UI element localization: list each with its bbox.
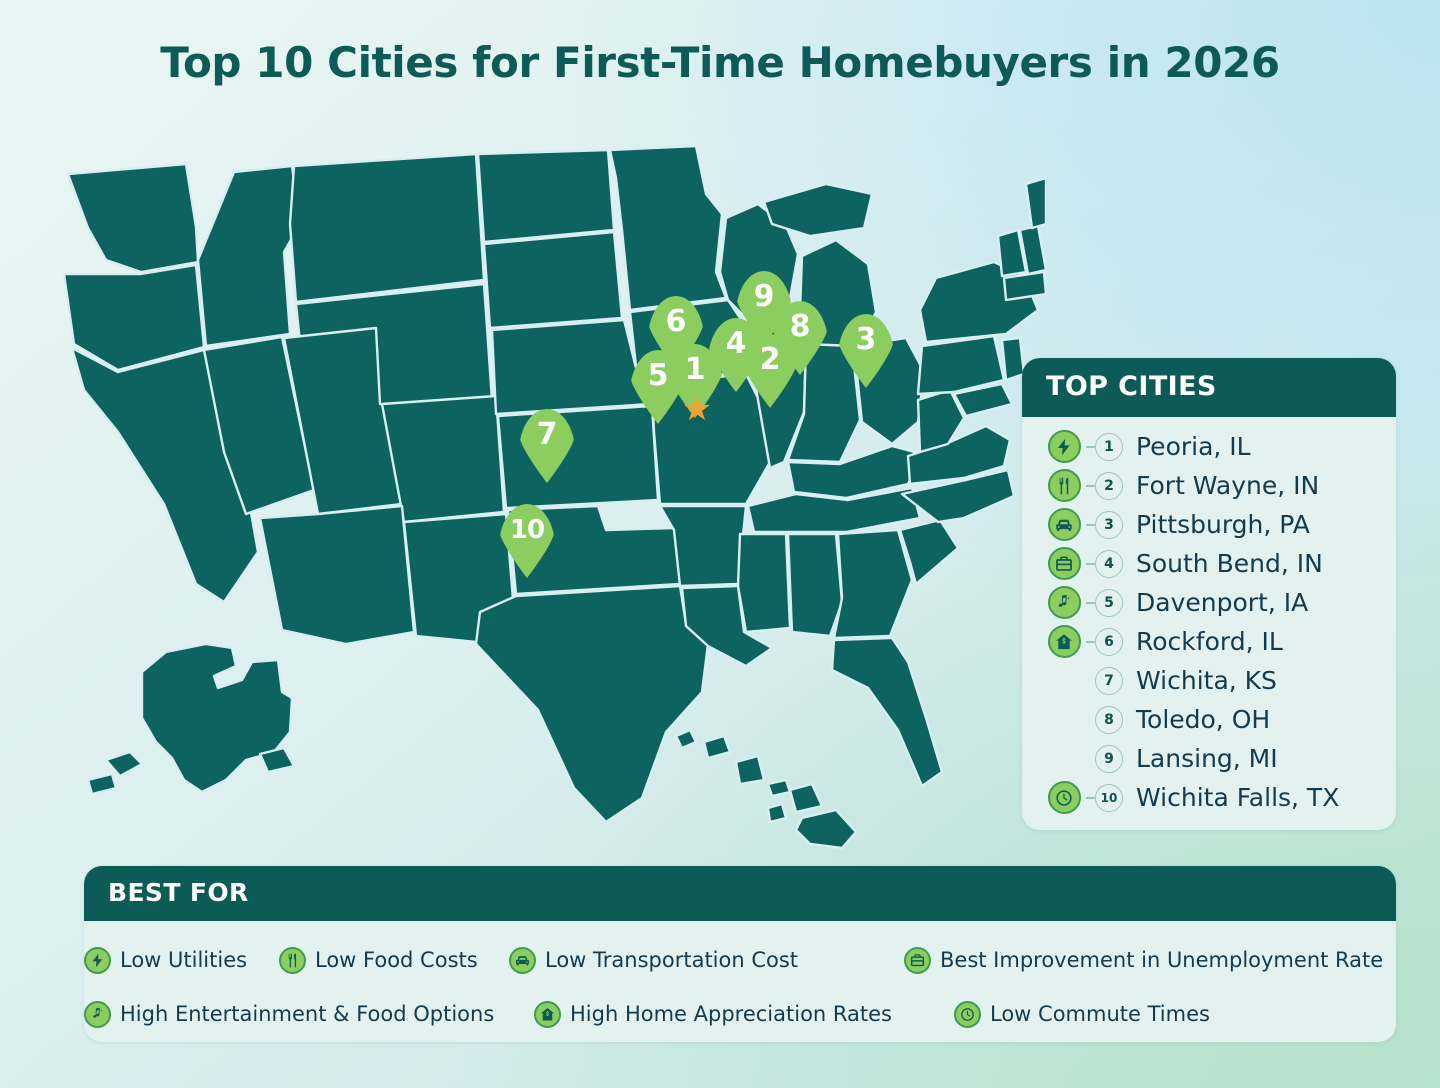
city-category-icon-slot (1042, 586, 1086, 619)
connector-line (1086, 446, 1095, 448)
city-name-label: Fort Wayne, IN (1136, 471, 1319, 500)
city-rank-badge: 8 (1095, 706, 1123, 734)
connector-line (1086, 524, 1095, 526)
city-rank-badge: 7 (1095, 667, 1123, 695)
state-shapes (64, 146, 1046, 848)
city-rank-badge: 2 (1095, 472, 1123, 500)
city-rank-badge: 4 (1095, 550, 1123, 578)
best-for-legend: Low UtilitiesLow Food CostsLow Transport… (84, 921, 1396, 1041)
map-pin-number: 5 (630, 354, 686, 398)
connector-line (1086, 602, 1095, 604)
city-list-item[interactable]: 10Wichita Falls, TX (1022, 778, 1396, 817)
clock-icon (954, 1001, 981, 1028)
legend-item: Low Food Costs (279, 947, 478, 974)
legend-row: Low UtilitiesLow Food CostsLow Transport… (84, 933, 1396, 987)
map-pin-number: 10 (499, 508, 555, 552)
city-rank-badge: 5 (1095, 589, 1123, 617)
legend-label: Low Commute Times (990, 1002, 1210, 1026)
fork-knife-icon (279, 947, 306, 974)
city-name-label: Toledo, OH (1136, 705, 1270, 734)
city-list-item[interactable]: 2Fort Wayne, IN (1022, 466, 1396, 505)
city-list-item[interactable]: 6Rockford, IL (1022, 622, 1396, 661)
map-pin-10[interactable]: 10 (499, 504, 555, 578)
city-category-icon-slot (1042, 508, 1086, 541)
us-map: 69842315710★ (46, 132, 1046, 852)
city-category-icon-slot (1042, 625, 1086, 658)
map-pin-number: 3 (838, 318, 894, 362)
city-rank-badge: 1 (1095, 433, 1123, 461)
city-rank-badge: 10 (1095, 784, 1123, 812)
car-icon (509, 947, 536, 974)
city-rank-badge: 9 (1095, 745, 1123, 773)
connector-line (1086, 563, 1095, 565)
top-cities-heading: TOP CITIES (1022, 358, 1396, 417)
legend-item: High Entertainment & Food Options (84, 1001, 494, 1028)
map-pin-7[interactable]: 7 (519, 409, 575, 483)
city-name-label: Peoria, IL (1136, 432, 1251, 461)
map-pin-number: 6 (648, 300, 704, 344)
page-title: Top 10 Cities for First-Time Homebuyers … (0, 38, 1440, 87)
legend-item: Low Commute Times (954, 1001, 1210, 1028)
top-cities-list: 1Peoria, IL2Fort Wayne, IN3Pittsburgh, P… (1022, 417, 1396, 830)
us-map-svg (46, 132, 1046, 852)
house-dollar-icon (1048, 625, 1081, 658)
music-notes-icon (84, 1001, 111, 1028)
best-for-panel: BEST FOR Low UtilitiesLow Food CostsLow … (84, 866, 1396, 1042)
city-rank-badge: 3 (1095, 511, 1123, 539)
legend-label: Low Transportation Cost (545, 948, 798, 972)
connector-line (1086, 485, 1095, 487)
city-list-item[interactable]: 4South Bend, IN (1022, 544, 1396, 583)
city-name-label: Rockford, IL (1136, 627, 1283, 656)
legend-row: High Entertainment & Food OptionsHigh Ho… (84, 987, 1396, 1041)
star-marker-icon: ★ (682, 392, 712, 426)
legend-item: High Home Appreciation Rates (534, 1001, 892, 1028)
clock-icon (1048, 781, 1081, 814)
map-pin-5[interactable]: 5 (630, 350, 686, 424)
legend-label: Low Food Costs (315, 948, 478, 972)
city-category-icon-slot (1042, 469, 1086, 502)
car-icon (1048, 508, 1081, 541)
city-name-label: Davenport, IA (1136, 588, 1308, 617)
city-list-item[interactable]: 3Pittsburgh, PA (1022, 505, 1396, 544)
briefcase-icon (904, 947, 931, 974)
legend-item: Best Improvement in Unemployment Rate (904, 947, 1383, 974)
map-pin-2[interactable]: 2 (742, 334, 798, 408)
city-rank-badge: 6 (1095, 628, 1123, 656)
briefcase-icon (1048, 547, 1081, 580)
lightning-bolt-icon (1048, 430, 1081, 463)
legend-label: High Home Appreciation Rates (570, 1002, 892, 1026)
city-category-icon-slot (1042, 781, 1086, 814)
city-category-icon-slot (1042, 547, 1086, 580)
city-category-icon-slot (1042, 430, 1086, 463)
city-name-label: South Bend, IN (1136, 549, 1323, 578)
city-name-label: Wichita Falls, TX (1136, 783, 1339, 812)
house-dollar-icon (534, 1001, 561, 1028)
best-for-heading: BEST FOR (84, 866, 1396, 921)
legend-item: Low Transportation Cost (509, 947, 798, 974)
city-list-item[interactable]: 1Peoria, IL (1022, 427, 1396, 466)
map-pin-number: 2 (742, 338, 798, 382)
city-list-item[interactable]: 9Lansing, MI (1022, 739, 1396, 778)
legend-label: Low Utilities (120, 948, 247, 972)
fork-knife-icon (1048, 469, 1081, 502)
connector-line (1086, 641, 1095, 643)
top-cities-panel: TOP CITIES 1Peoria, IL2Fort Wayne, IN3Pi… (1022, 358, 1396, 830)
legend-label: High Entertainment & Food Options (120, 1002, 494, 1026)
lightning-bolt-icon (84, 947, 111, 974)
city-name-label: Wichita, KS (1136, 666, 1277, 695)
city-list-item[interactable]: 5Davenport, IA (1022, 583, 1396, 622)
legend-label: Best Improvement in Unemployment Rate (940, 948, 1383, 972)
city-name-label: Lansing, MI (1136, 744, 1278, 773)
city-list-item[interactable]: 8Toledo, OH (1022, 700, 1396, 739)
map-pin-number: 7 (519, 413, 575, 457)
city-name-label: Pittsburgh, PA (1136, 510, 1310, 539)
connector-line (1086, 797, 1095, 799)
music-notes-icon (1048, 586, 1081, 619)
legend-item: Low Utilities (84, 947, 247, 974)
city-list-item[interactable]: 7Wichita, KS (1022, 661, 1396, 700)
map-pin-3[interactable]: 3 (838, 314, 894, 388)
